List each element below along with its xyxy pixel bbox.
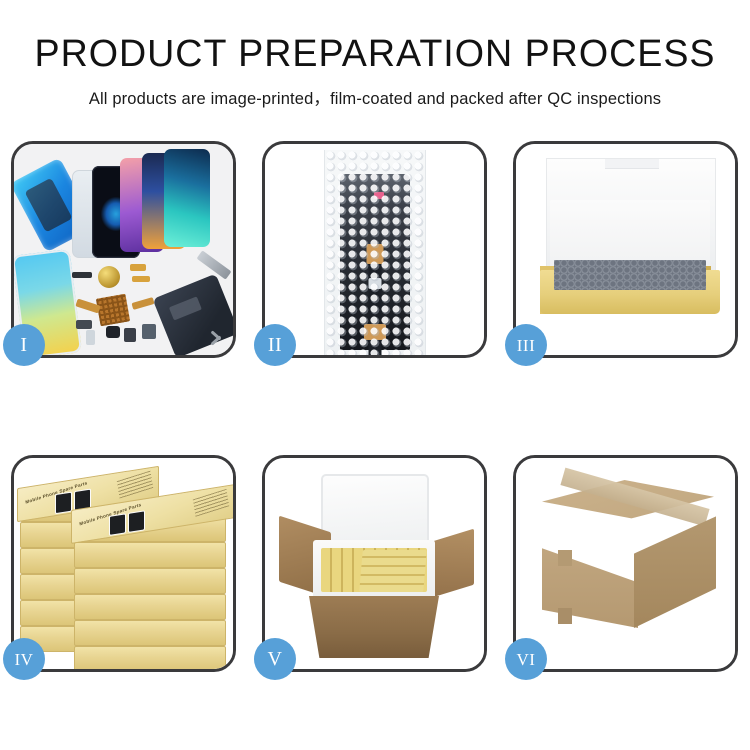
carton-body-icon [309,596,439,658]
carton-tab-icon [558,550,572,566]
part-icon [106,326,120,338]
open-carton-scene [265,458,484,669]
kraft-box-icon [74,568,226,594]
part-icon [76,320,92,329]
carton-tab-icon [558,608,572,624]
process-step-card-5[interactable]: V [262,455,487,672]
process-step-card-3[interactable]: III [513,141,738,358]
step-badge-2: II [254,324,296,366]
box-stack-front: Mobile Phone Spare Parts [74,516,224,666]
yellow-box-tray-icon [540,270,720,314]
process-step-card-6[interactable]: VI [513,455,738,672]
kraft-box-icon [74,594,226,620]
kraft-box-icon [74,542,226,568]
printed-screen-icon [55,492,72,515]
step-numeral: II [268,335,282,355]
stacked-boxes-scene: Mobile Phone Spare Parts [14,458,233,669]
part-icon [86,330,95,345]
step-numeral: III [517,337,535,354]
teal-phone-icon [164,149,210,247]
part-icon [131,297,154,310]
bubble-bag-icon [324,150,426,355]
open-yellow-box-scene [516,144,735,355]
step-2-illustration [265,144,484,355]
step-5-illustration [265,458,484,669]
bubble-wrapped-contents-icon [554,260,706,290]
foam-lid-icon [321,474,429,550]
printed-spec-lines-icon [117,471,153,499]
printed-spec-lines-icon [193,489,229,517]
part-icon [132,276,150,282]
step-numeral: I [20,335,27,355]
kraft-box-icon [74,620,226,646]
page-subtitle: All products are image-printed，film-coat… [0,85,750,109]
page-title: PRODUCT PREPARATION PROCESS [4,32,747,76]
kraft-box-icon [74,646,226,669]
part-icon [124,328,136,342]
step-numeral: VI [517,651,536,668]
phone-parts-scene [14,144,233,355]
carton-side-face-icon [634,504,716,628]
process-step-card-4[interactable]: Mobile Phone Spare Parts [11,455,236,672]
step-6-illustration [516,458,735,669]
chip-grid-icon [96,294,130,327]
product-preparation-process-page: PRODUCT PREPARATION PROCESS All products… [0,0,750,750]
step-badge-1: I [3,324,45,366]
step-badge-3: III [505,324,547,366]
printed-screen-icon [128,510,145,533]
step-3-illustration [516,144,735,355]
page-header: PRODUCT PREPARATION PROCESS All products… [0,0,750,109]
speaker-component-icon [98,266,120,288]
bubble-wrap-scene [265,144,484,355]
part-icon [130,264,146,271]
kraft-box-icon: Mobile Phone Spare Parts [74,516,226,542]
process-step-card-1[interactable]: I [11,141,236,358]
step-1-illustration [14,144,233,355]
part-icon [72,272,92,278]
carton-front-face-icon [542,514,638,628]
sealed-carton-scene [516,458,735,669]
printed-screen-icon [109,513,126,536]
bubble-texture-icon [325,150,425,355]
step-numeral: V [268,649,283,669]
step-badge-6: VI [505,638,547,680]
step-4-illustration: Mobile Phone Spare Parts [14,458,233,669]
screws-icon [210,330,228,344]
step-numeral: IV [15,651,34,668]
step-badge-4: IV [3,638,45,680]
process-step-card-2[interactable]: II [262,141,487,358]
step-badge-5: V [254,638,296,680]
part-icon [142,324,156,339]
process-steps-grid: I II [11,141,739,672]
yellow-boxes-icon [359,550,427,592]
